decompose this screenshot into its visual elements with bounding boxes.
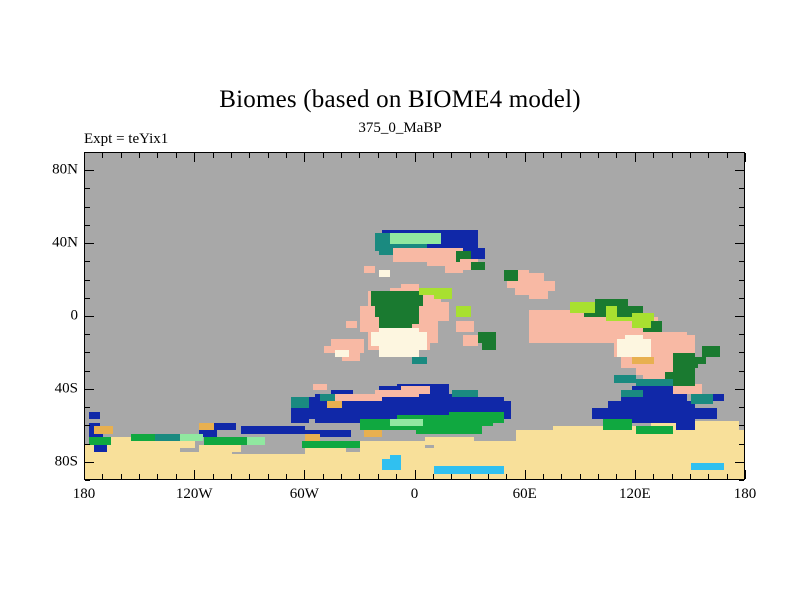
y-tick--70 <box>85 444 90 445</box>
x-tick-30 <box>470 474 471 479</box>
biome-raster <box>85 153 745 480</box>
x-tick-label-180: 180 <box>734 486 757 503</box>
y-tick-right-40 <box>735 243 744 244</box>
y-tick-80 <box>85 170 94 171</box>
y-tick-30 <box>85 261 90 262</box>
x-tick-top-120 <box>635 153 636 162</box>
experiment-label: Expt = teYix1 <box>84 131 168 148</box>
x-tick-top-170 <box>727 153 728 158</box>
x-tick-top--130 <box>176 153 177 158</box>
x-tick-label-120W: 120W <box>176 486 213 503</box>
x-tick-top-180 <box>745 153 746 162</box>
x-tick--170 <box>102 474 103 479</box>
x-tick-top--40 <box>341 153 342 158</box>
y-tick-20 <box>85 280 90 281</box>
x-tick-100 <box>598 474 599 479</box>
x-tick--160 <box>121 474 122 479</box>
x-tick-120 <box>635 470 636 479</box>
y-tick-90 <box>85 152 90 153</box>
y-tick--40 <box>85 389 94 390</box>
y-tick-right-0 <box>735 316 744 317</box>
y-tick-right-80 <box>735 170 744 171</box>
y-tick-label-80S: 80S <box>55 453 78 470</box>
y-tick-50 <box>85 225 90 226</box>
y-tick-label-80N: 80N <box>52 162 78 179</box>
x-tick--130 <box>176 474 177 479</box>
y-tick-right--80 <box>735 462 744 463</box>
y-tick--30 <box>85 371 90 372</box>
x-tick-180 <box>745 470 746 479</box>
x-tick--80 <box>268 474 269 479</box>
x-tick-top-110 <box>616 153 617 158</box>
x-tick--20 <box>378 474 379 479</box>
x-tick--180 <box>84 470 85 479</box>
x-tick--60 <box>304 470 305 479</box>
x-tick-top-130 <box>653 153 654 158</box>
x-tick-140 <box>672 474 673 479</box>
x-tick-130 <box>653 474 654 479</box>
x-tick--10 <box>396 474 397 479</box>
y-tick-right-70 <box>739 188 744 189</box>
y-tick-right-20 <box>739 280 744 281</box>
x-tick-150 <box>690 474 691 479</box>
x-tick--100 <box>231 474 232 479</box>
x-tick-90 <box>580 474 581 479</box>
x-tick-top-160 <box>708 153 709 158</box>
x-tick--140 <box>157 474 158 479</box>
y-tick-right--10 <box>739 334 744 335</box>
x-tick-top-140 <box>672 153 673 158</box>
x-tick-label-60E: 60E <box>513 486 537 503</box>
x-tick-label-0: 0 <box>411 486 419 503</box>
y-tick-right--40 <box>735 389 744 390</box>
y-tick-10 <box>85 298 90 299</box>
x-tick-top-50 <box>506 153 507 158</box>
x-tick-top-20 <box>451 153 452 158</box>
x-tick-top-70 <box>543 153 544 158</box>
x-tick-top--70 <box>286 153 287 158</box>
y-tick--80 <box>85 462 94 463</box>
x-tick-label-120E: 120E <box>619 486 651 503</box>
y-tick--60 <box>85 425 90 426</box>
x-tick-10 <box>433 474 434 479</box>
y-tick-right-30 <box>739 261 744 262</box>
x-tick--70 <box>286 474 287 479</box>
x-tick-label-180: 180 <box>73 486 96 503</box>
x-tick-60 <box>525 470 526 479</box>
y-tick-right--20 <box>739 352 744 353</box>
x-tick-top-60 <box>525 153 526 162</box>
x-tick-top-80 <box>561 153 562 158</box>
y-tick-60 <box>85 207 90 208</box>
x-tick--110 <box>213 474 214 479</box>
y-tick-40 <box>85 243 94 244</box>
x-tick-top--100 <box>231 153 232 158</box>
y-tick-right-90 <box>739 152 744 153</box>
y-tick-label-40S: 40S <box>55 380 78 397</box>
y-tick-right-50 <box>739 225 744 226</box>
x-tick--40 <box>341 474 342 479</box>
x-tick--90 <box>249 474 250 479</box>
y-tick-right--60 <box>739 425 744 426</box>
y-tick-right--90 <box>739 480 744 481</box>
page-title: Biomes (based on BIOME4 model) <box>0 86 800 114</box>
x-tick--120 <box>194 470 195 479</box>
x-tick-160 <box>708 474 709 479</box>
biome-map-figure: Biomes (based on BIOME4 model) 375_0_MaB… <box>0 0 800 600</box>
x-tick-top--110 <box>213 153 214 158</box>
x-tick-top--10 <box>396 153 397 158</box>
x-tick--150 <box>139 474 140 479</box>
x-tick--30 <box>359 474 360 479</box>
x-tick-label-60W: 60W <box>290 486 319 503</box>
x-tick--50 <box>323 474 324 479</box>
y-tick-0 <box>85 316 94 317</box>
x-tick-40 <box>488 474 489 479</box>
y-tick--10 <box>85 334 90 335</box>
y-tick-70 <box>85 188 90 189</box>
x-tick-top-10 <box>433 153 434 158</box>
x-tick-top--60 <box>304 153 305 162</box>
x-tick-top-40 <box>488 153 489 158</box>
x-tick-20 <box>451 474 452 479</box>
x-tick-top--180 <box>84 153 85 162</box>
y-tick-right--50 <box>739 407 744 408</box>
y-tick-label-40N: 40N <box>52 235 78 252</box>
y-tick-right-10 <box>739 298 744 299</box>
x-tick-top-100 <box>598 153 599 158</box>
x-tick-top--150 <box>139 153 140 158</box>
x-tick-top--140 <box>157 153 158 158</box>
x-tick-top--80 <box>268 153 269 158</box>
x-tick-top-0 <box>415 153 416 162</box>
x-tick-top--20 <box>378 153 379 158</box>
x-tick-top--30 <box>359 153 360 158</box>
x-tick-top--160 <box>121 153 122 158</box>
x-tick-top-150 <box>690 153 691 158</box>
y-tick-right--70 <box>739 444 744 445</box>
x-tick-50 <box>506 474 507 479</box>
x-tick-0 <box>415 470 416 479</box>
y-tick--50 <box>85 407 90 408</box>
x-tick-110 <box>616 474 617 479</box>
map-plot-area <box>84 152 745 480</box>
x-tick-top--120 <box>194 153 195 162</box>
y-tick-label-0: 0 <box>71 308 79 325</box>
x-tick-top-30 <box>470 153 471 158</box>
x-tick-top--170 <box>102 153 103 158</box>
y-tick-right-60 <box>739 207 744 208</box>
x-tick-170 <box>727 474 728 479</box>
y-tick--20 <box>85 352 90 353</box>
x-tick-top--90 <box>249 153 250 158</box>
y-tick-right--30 <box>739 371 744 372</box>
x-tick-70 <box>543 474 544 479</box>
x-tick-top--50 <box>323 153 324 158</box>
x-tick-top-90 <box>580 153 581 158</box>
y-tick--90 <box>85 480 90 481</box>
x-tick-80 <box>561 474 562 479</box>
